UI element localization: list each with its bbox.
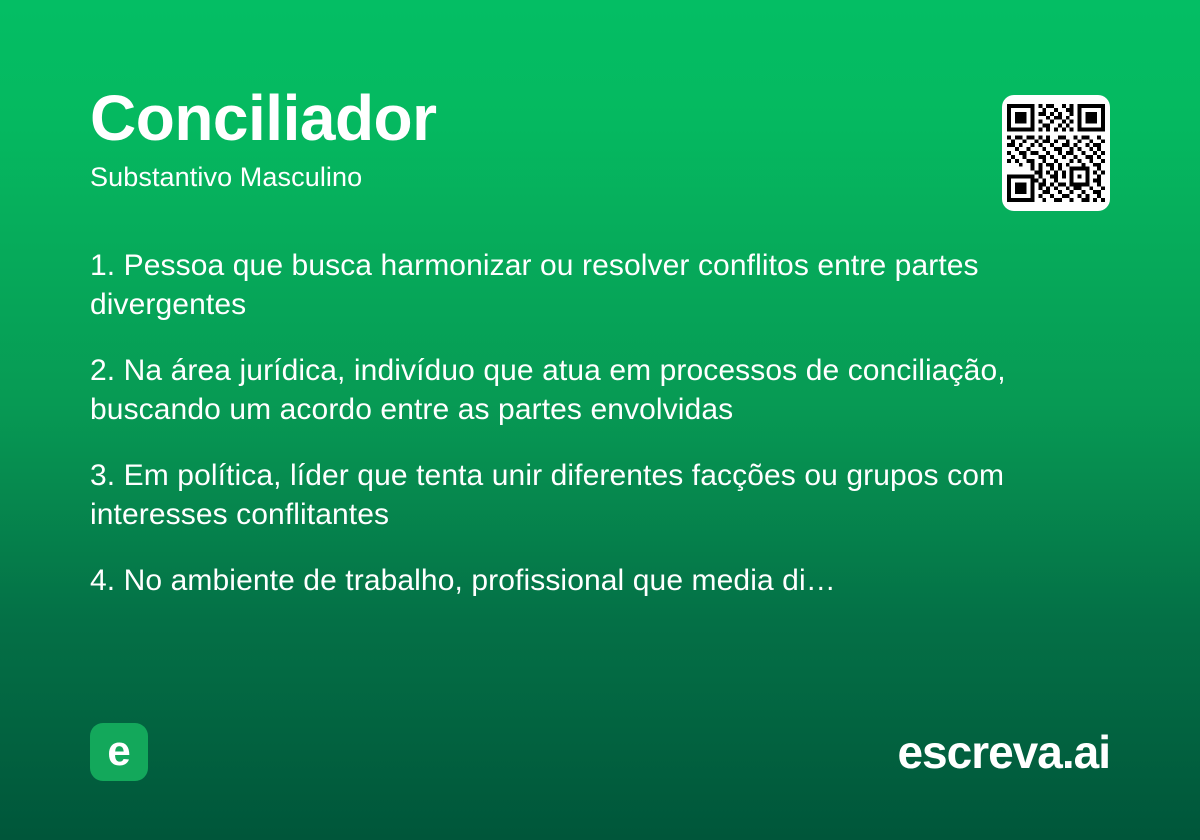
- word-class-label: Substantivo Masculino: [90, 150, 1110, 191]
- logo-letter: e: [107, 730, 130, 772]
- definition-item: 4. No ambiente de trabalho, profissional…: [90, 561, 990, 600]
- card-header: Conciliador Substantivo Masculino: [90, 86, 1110, 191]
- definition-item: 3. Em política, líder que tenta unir dif…: [90, 456, 1085, 534]
- definition-item: 1. Pessoa que busca harmonizar ou resolv…: [90, 246, 1110, 324]
- word-definition-card: Conciliador Substantivo Masculino: [0, 0, 1200, 840]
- escreva-logo-icon: e: [90, 723, 148, 781]
- definition-item: 2. Na área jurídica, indivíduo que atua …: [90, 351, 1040, 429]
- card-footer: e escreva.ai: [90, 723, 1110, 781]
- definition-list: 1. Pessoa que busca harmonizar ou resolv…: [90, 246, 1110, 600]
- page-title: Conciliador: [90, 86, 1110, 150]
- qr-code-panel[interactable]: [1002, 95, 1110, 211]
- brand-wordmark: escreva.ai: [897, 729, 1110, 775]
- qr-code-icon: [1007, 102, 1105, 204]
